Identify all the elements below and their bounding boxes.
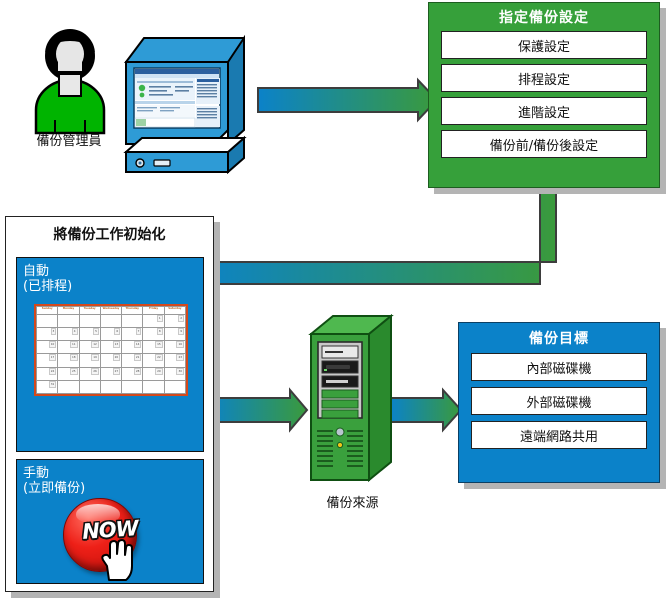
- calendar-day-cell[interactable]: 6: [100, 328, 121, 341]
- arrow-console-to-settings: [258, 80, 437, 120]
- calendar-day-cell[interactable]: [58, 315, 79, 328]
- calendar-day-cell[interactable]: 2: [164, 315, 185, 328]
- auto-mode-box: 自動 (已排程) SundayMondayTuesdayWednesdayThu…: [16, 257, 204, 452]
- now-button-wrap: NOW: [35, 494, 185, 580]
- calendar-day-cell[interactable]: 31: [37, 380, 58, 393]
- calendar-day-cell[interactable]: 20: [100, 354, 121, 367]
- calendar-day-cell[interactable]: 14: [122, 341, 143, 354]
- arrow-source-to-destination: [390, 390, 461, 430]
- calendar-day-cell[interactable]: 13: [100, 341, 121, 354]
- calendar-header-cell: Tuesday: [79, 307, 100, 315]
- calendar-day-cell[interactable]: 19: [79, 354, 100, 367]
- destination-panel-title: 備份目標: [459, 326, 659, 353]
- calendar-day-cell[interactable]: 16: [164, 341, 185, 354]
- initiate-panel-title: 將備份工作初始化: [6, 220, 213, 250]
- initiate-panel: 將備份工作初始化 自動 (已排程) SundayMondayTuesdayWed…: [5, 216, 214, 592]
- calendar-day-cell[interactable]: 30: [164, 367, 185, 380]
- hand-cursor-icon: [97, 536, 137, 584]
- calendar-week-row: 3456789: [37, 328, 186, 341]
- calendar-header-row: SundayMondayTuesdayWednesdayThursdayFrid…: [37, 307, 186, 315]
- calendar-day-cell[interactable]: 11: [58, 341, 79, 354]
- settings-item-protection[interactable]: 保護設定: [441, 31, 647, 59]
- calendar-icon: SundayMondayTuesdayWednesdayThursdayFrid…: [34, 304, 188, 396]
- settings-item-advanced[interactable]: 進階設定: [441, 97, 647, 125]
- calendar-header-cell: Monday: [58, 307, 79, 315]
- calendar-day-cell[interactable]: 4: [58, 328, 79, 341]
- calendar-day-cell[interactable]: 26: [79, 367, 100, 380]
- calendar-day-cell[interactable]: 27: [100, 367, 121, 380]
- calendar-day-cell[interactable]: [164, 380, 185, 393]
- calendar-day-cell[interactable]: 28: [122, 367, 143, 380]
- destination-panel: 備份目標 內部磁碟機 外部磁碟機 遠端網路共用: [458, 322, 660, 483]
- calendar-week-row: 12: [37, 315, 186, 328]
- calendar-day-cell[interactable]: 7: [122, 328, 143, 341]
- calendar-week-row: 10111213141516: [37, 341, 186, 354]
- calendar-day-cell[interactable]: [58, 380, 79, 393]
- arrow-settings-to-initiate: [189, 188, 556, 293]
- source-label: 備份來源: [280, 492, 425, 511]
- calendar-day-cell[interactable]: 29: [143, 367, 164, 380]
- calendar-day-cell[interactable]: [143, 380, 164, 393]
- actor-label: 備份管理員: [4, 130, 134, 149]
- server-tower-icon: [305, 312, 397, 492]
- calendar-day-cell[interactable]: 8: [143, 328, 164, 341]
- calendar-day-cell[interactable]: [122, 380, 143, 393]
- calendar-day-cell[interactable]: [79, 315, 100, 328]
- calendar-header-cell: Saturday: [164, 307, 185, 315]
- calendar-day-cell[interactable]: 12: [79, 341, 100, 354]
- calendar-day-cell[interactable]: [37, 315, 58, 328]
- manual-mode-box: 手動 (立即備份) NOW: [16, 459, 204, 584]
- destination-item-network-share[interactable]: 遠端網路共用: [471, 421, 647, 449]
- settings-panel-title: 指定備份設定: [429, 5, 659, 31]
- calendar-day-cell[interactable]: 21: [122, 354, 143, 367]
- settings-item-schedule[interactable]: 排程設定: [441, 64, 647, 92]
- destination-item-external[interactable]: 外部磁碟機: [471, 387, 647, 415]
- calendar-day-cell[interactable]: 9: [164, 328, 185, 341]
- calendar-week-row: 31: [37, 380, 186, 393]
- calendar-day-cell[interactable]: 5: [79, 328, 100, 341]
- person-icon: [22, 28, 118, 138]
- calendar-day-cell[interactable]: 1: [143, 315, 164, 328]
- calendar-header-cell: Sunday: [37, 307, 58, 315]
- calendar-day-cell[interactable]: 17: [37, 354, 58, 367]
- arrow-initiate-to-source: [207, 390, 307, 430]
- calendar-week-row: 24252627282930: [37, 367, 186, 380]
- calendar-day-cell[interactable]: [100, 380, 121, 393]
- destination-item-internal[interactable]: 內部磁碟機: [471, 353, 647, 381]
- settings-panel: 指定備份設定 保護設定 排程設定 進階設定 備份前/備份後設定: [428, 2, 660, 188]
- calendar-day-cell[interactable]: [100, 315, 121, 328]
- diagram-canvas: 備份管理員: [0, 0, 669, 601]
- settings-item-pre-post[interactable]: 備份前/備份後設定: [441, 130, 647, 158]
- calendar-header-cell: Wednesday: [100, 307, 121, 315]
- calendar-day-cell[interactable]: 15: [143, 341, 164, 354]
- desktop-computer-icon: [118, 34, 258, 174]
- calendar-day-cell[interactable]: 22: [143, 354, 164, 367]
- calendar-day-cell[interactable]: 25: [58, 367, 79, 380]
- calendar-week-row: 17181920212223: [37, 354, 186, 367]
- calendar-day-cell[interactable]: 10: [37, 341, 58, 354]
- calendar-day-cell[interactable]: 18: [58, 354, 79, 367]
- calendar-day-cell[interactable]: [122, 315, 143, 328]
- calendar-day-cell[interactable]: [79, 380, 100, 393]
- calendar-header-cell: Friday: [143, 307, 164, 315]
- calendar-table: SundayMondayTuesdayWednesdayThursdayFrid…: [36, 306, 186, 394]
- calendar-day-cell[interactable]: 23: [164, 354, 185, 367]
- auto-mode-label: 自動 (已排程): [17, 258, 203, 294]
- calendar-day-cell[interactable]: 24: [37, 367, 58, 380]
- calendar-header-cell: Thursday: [122, 307, 143, 315]
- manual-mode-label: 手動 (立即備份): [17, 460, 203, 496]
- calendar-day-cell[interactable]: 3: [37, 328, 58, 341]
